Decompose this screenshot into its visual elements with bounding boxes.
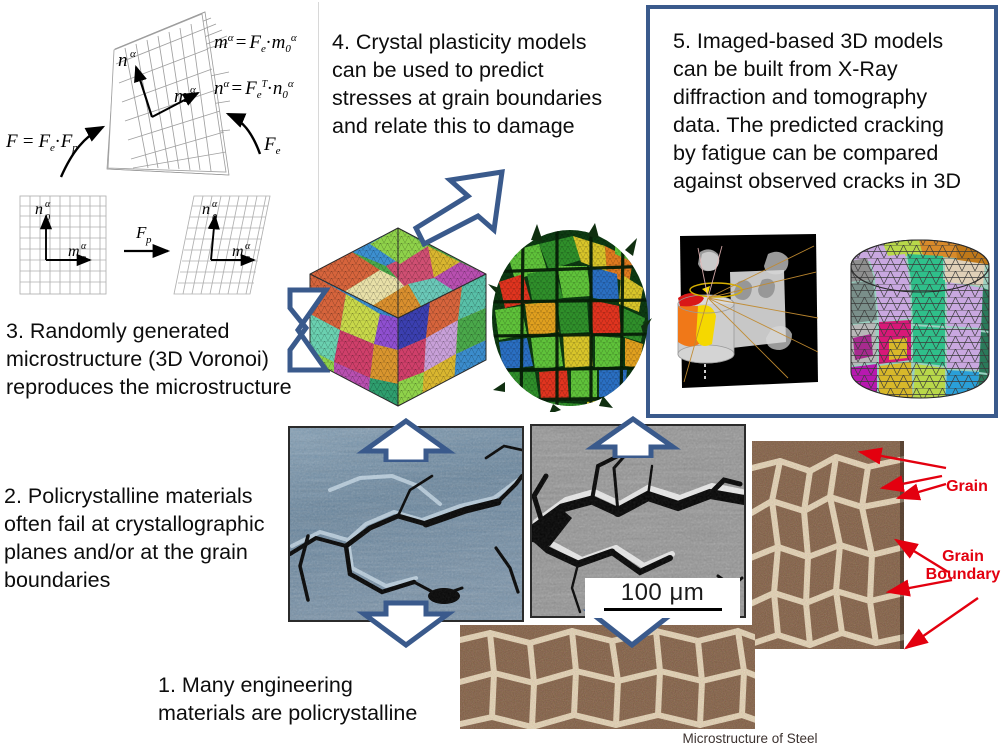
arrow-grayscale-up <box>585 416 681 458</box>
slip-normal-equation: nα=FeT·n0α <box>214 78 294 101</box>
grain-label: Grain <box>936 478 998 496</box>
callout-5: 5. Imaged-based 3D models can be built f… <box>673 28 1001 196</box>
scale-bar: 100 μm <box>585 578 740 618</box>
arrow-voronoi-to-model <box>398 166 512 258</box>
vector-n-alpha-label: n <box>118 50 128 71</box>
arrow-sem-to-steel <box>356 600 456 648</box>
callout-2: 2. Policrystalline materials often fail … <box>4 483 296 595</box>
arrow-sem-to-voronoi <box>356 418 456 462</box>
reference-n0-label: n <box>35 201 43 218</box>
grain-annotation-arrows <box>818 440 1006 650</box>
reference-m0-label: m <box>68 243 80 260</box>
scale-bar-text: 100 μm <box>621 578 705 607</box>
reference-m0-sub: 0 <box>81 255 86 266</box>
xray-schematic-svg <box>668 232 828 398</box>
intermediate-n0-label: n <box>202 201 210 218</box>
deformation-gradient-svg: n α m α n α 0 m α 0 F p <box>2 2 318 302</box>
callout-3: 3. Randomly generated microstructure (3D… <box>6 318 340 402</box>
grain-boundary-label: Grain Boundary <box>920 548 1006 584</box>
intermediate-n0-sub: 0 <box>212 213 217 224</box>
callout-4: 4. Crystal plasticity models can be used… <box>332 29 634 141</box>
total-deformation-equation: F=Fe·Fp <box>5 131 78 154</box>
slip-direction-equation: mα=Fe·m0α <box>214 32 297 55</box>
intermediate-m0-sub: 0 <box>245 255 250 266</box>
callout-1: 1. Many engineering materials are policr… <box>158 672 458 728</box>
intermediate-m0-label: m <box>232 243 244 260</box>
scale-bar-line <box>604 608 722 611</box>
cylinder-polycrystal-image <box>845 232 995 408</box>
elastic-gradient-arrow <box>228 114 260 154</box>
intermediate-m0-sup: α <box>245 241 251 252</box>
vector-m-alpha-sup: α <box>190 84 196 96</box>
reference-n0-sup: α <box>45 199 51 210</box>
steel-caption: Microstructure of Steel <box>600 731 900 746</box>
reference-m0-sup: α <box>81 241 87 252</box>
plastic-gradient-sub: p <box>145 234 152 246</box>
deformation-gradient-schematic: n α m α n α 0 m α 0 F p <box>2 2 319 302</box>
intermediate-n0-sup: α <box>212 199 218 210</box>
vector-n-alpha-sup: α <box>130 48 136 60</box>
elastic-gradient-label: Fe <box>263 134 281 157</box>
xray-diffraction-schematic-image <box>668 232 828 398</box>
cylinder-polycrystal-svg <box>845 232 995 408</box>
reference-n0-sub: 0 <box>45 213 50 224</box>
vector-m-alpha-label: m <box>174 86 188 107</box>
